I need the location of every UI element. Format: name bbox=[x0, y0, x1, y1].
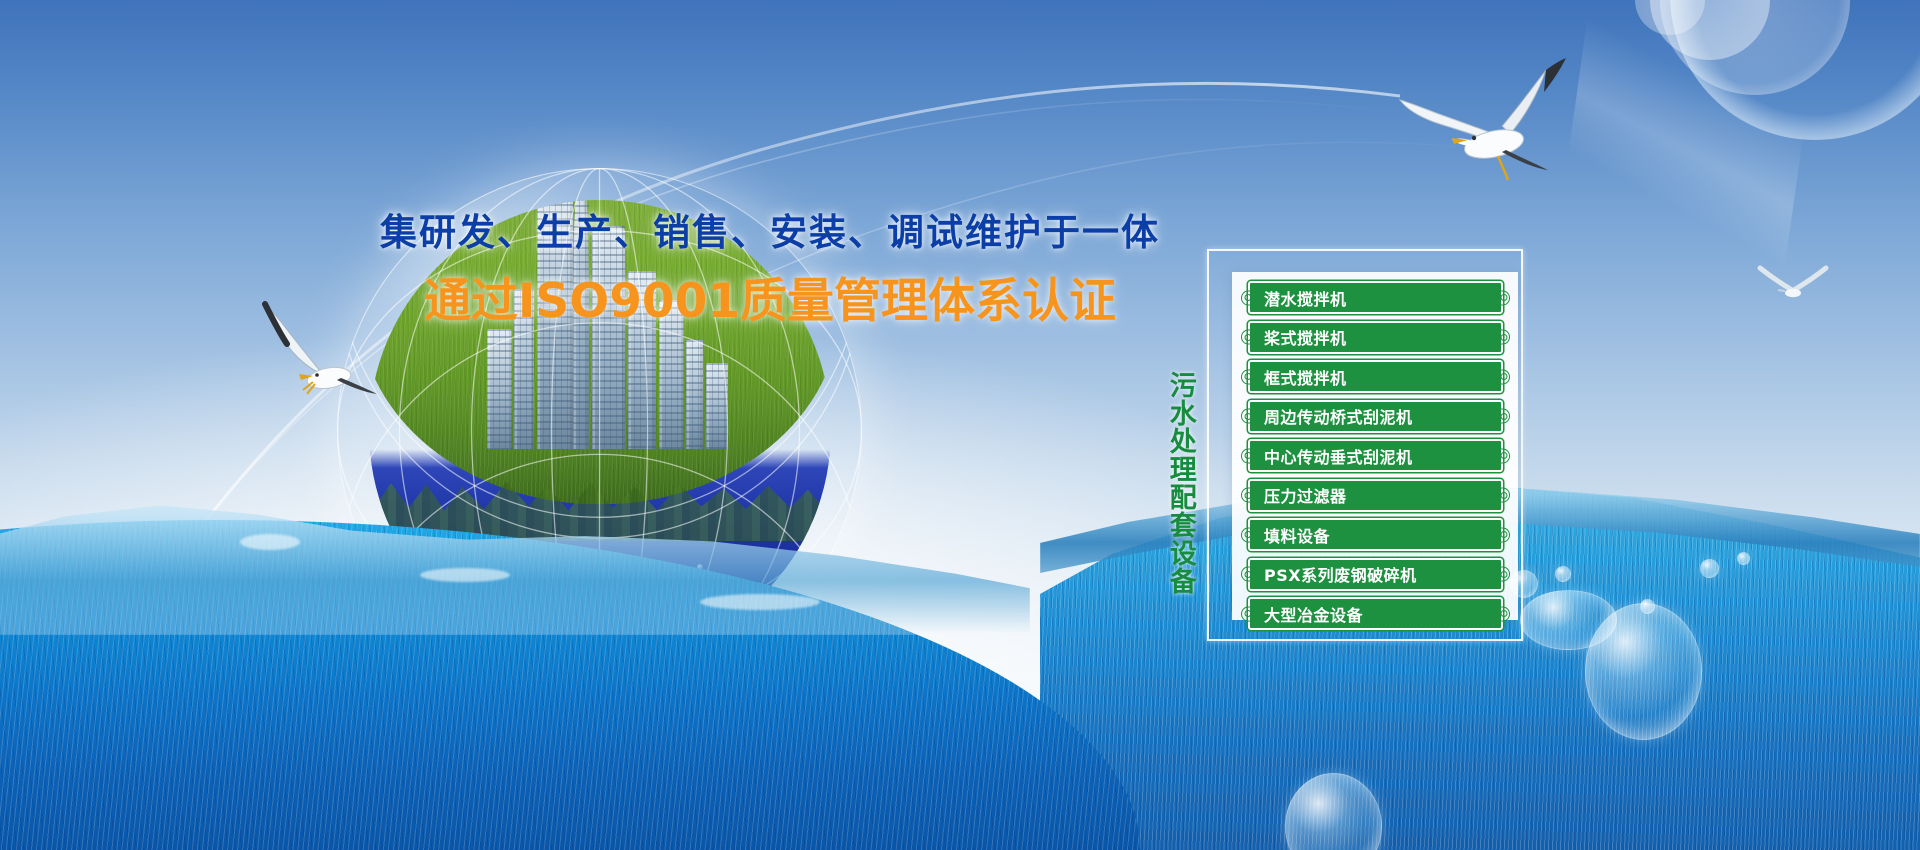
product-menu-item[interactable]: 填料设备 bbox=[1248, 518, 1503, 551]
product-menu-item[interactable]: 周边传动桥式刮泥机 bbox=[1248, 400, 1503, 433]
product-menu-item[interactable]: 桨式搅拌机 bbox=[1248, 321, 1503, 354]
product-menu-item-label: 压力过滤器 bbox=[1264, 483, 1347, 507]
product-menu-item[interactable]: 压力过滤器 bbox=[1248, 479, 1503, 512]
seagull-medium-left-icon bbox=[255, 300, 385, 410]
product-menu-item[interactable]: 中心传动垂式刮泥机 bbox=[1248, 439, 1503, 472]
product-menu-item-label: 周边传动桥式刮泥机 bbox=[1264, 404, 1413, 428]
product-menu-item-label: 框式搅拌机 bbox=[1264, 365, 1347, 389]
product-menu-item-label: 中心传动垂式刮泥机 bbox=[1264, 444, 1413, 468]
headline-block: 集研发、生产、销售、安装、调试维护于一体 通过ISO9001质量管理体系认证 bbox=[380, 202, 1160, 331]
sky-arcs bbox=[0, 0, 1920, 850]
headline-line-1: 集研发、生产、销售、安装、调试维护于一体 bbox=[380, 202, 1160, 256]
eyelet-left-icon bbox=[1241, 369, 1253, 384]
product-panel-vertical-title: 污水处理配套设备 bbox=[1166, 371, 1194, 595]
product-menu-list[interactable]: 潜水搅拌机 桨式搅拌机 框式搅拌机 周边传动桥式刮泥机 中心传动垂式刮泥机 压力… bbox=[1248, 281, 1503, 630]
product-menu-item[interactable]: 框式搅拌机 bbox=[1248, 360, 1503, 393]
eyelet-left-icon bbox=[1241, 488, 1253, 503]
eyelet-left-icon bbox=[1241, 409, 1253, 424]
eyelet-left-icon bbox=[1241, 527, 1253, 542]
eyelet-left-icon bbox=[1241, 290, 1253, 305]
product-menu-item-label: 大型冶金设备 bbox=[1264, 602, 1363, 626]
eyelet-left-icon bbox=[1241, 330, 1253, 345]
eyelet-left-icon bbox=[1241, 567, 1253, 582]
product-menu-item-label: 桨式搅拌机 bbox=[1264, 325, 1347, 349]
banner-stage: 集研发、生产、销售、安装、调试维护于一体 通过ISO9001质量管理体系认证 污… bbox=[0, 0, 1920, 850]
product-menu-item-label: PSX系列废钢破碎机 bbox=[1264, 562, 1417, 586]
product-menu-item-label: 潜水搅拌机 bbox=[1264, 286, 1347, 310]
product-menu-item[interactable]: 潜水搅拌机 bbox=[1248, 281, 1503, 314]
product-menu-item-label: 填料设备 bbox=[1264, 523, 1330, 547]
seagull-small-far-right-icon bbox=[1752, 258, 1834, 314]
product-menu-item[interactable]: PSX系列废钢破碎机 bbox=[1248, 558, 1503, 591]
product-menu-item[interactable]: 大型冶金设备 bbox=[1248, 597, 1503, 630]
eyelet-left-icon bbox=[1241, 448, 1253, 463]
seagull-large-right-icon bbox=[1398, 52, 1578, 192]
eyelet-left-icon bbox=[1241, 606, 1253, 621]
headline-line-2: 通过ISO9001质量管理体系认证 bbox=[380, 262, 1160, 331]
